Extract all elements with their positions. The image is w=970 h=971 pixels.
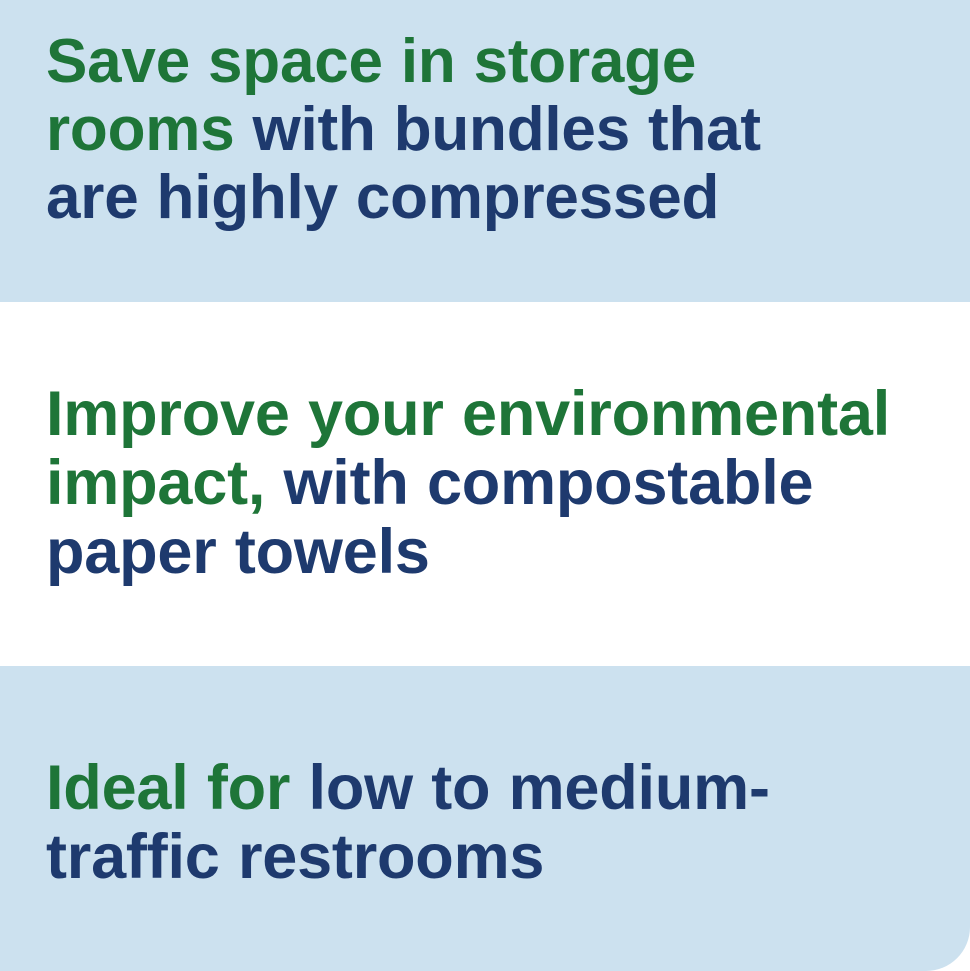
benefit-panel-traffic: Ideal for low to medium-traffic restroom… [0,666,970,971]
benefit-panel-environment: Improve your environmental impact, with … [0,302,970,666]
benefit-headline-traffic: Ideal for low to medium-traffic restroom… [46,754,926,892]
benefit-headline-accent-traffic: Ideal for [46,753,290,823]
benefit-headline-storage: Save space in storage rooms with bundles… [46,28,866,232]
benefit-headline-environment: Improve your environmental impact, with … [46,380,936,587]
benefit-panel-storage: Save space in storage rooms with bundles… [0,0,970,302]
benefits-panel-stack: Save space in storage rooms with bundles… [0,0,970,971]
